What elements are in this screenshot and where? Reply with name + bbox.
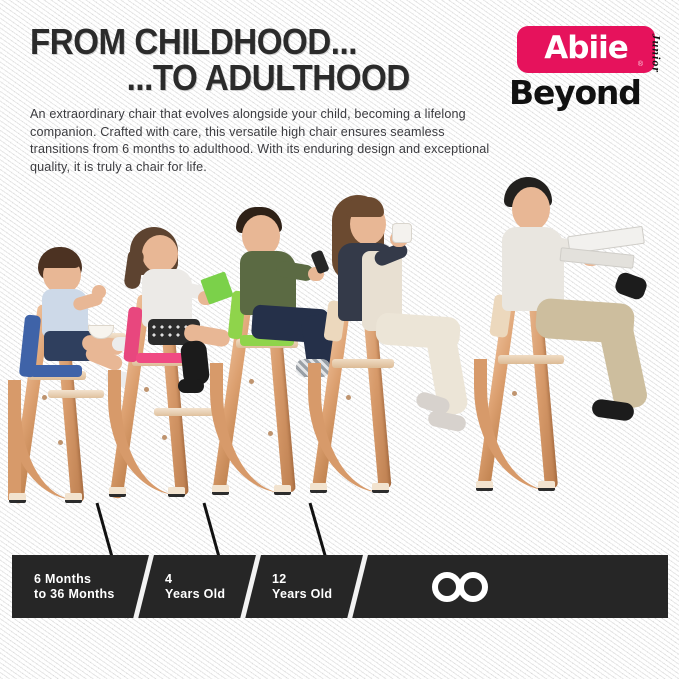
girl-head: [142, 235, 178, 273]
man-head: [512, 187, 550, 231]
description-paragraph: An extraordinary chair that evolves alon…: [30, 106, 495, 176]
age-segment-1: 6 Months to 36 Months: [34, 555, 115, 618]
age-segment-3-line2: Years Old: [272, 587, 332, 602]
man-sock: [613, 271, 649, 302]
chair-foot-rear: [476, 481, 493, 491]
segment-divider-3: [346, 555, 370, 618]
infinity-ring-right: [458, 572, 488, 602]
girl-shoe: [178, 379, 204, 393]
age-segment-2-line1: 4: [165, 572, 225, 587]
age-segment-2-line2: Years Old: [165, 587, 225, 602]
brand-badge: Abiie ®: [517, 26, 655, 73]
toddler-hair-fringe: [40, 251, 80, 268]
chair-foot-rear: [109, 487, 126, 497]
man-laptop-base: [559, 247, 634, 269]
age-segment-2: 4 Years Old: [165, 555, 225, 618]
figure-man: [480, 167, 679, 507]
man-body: [494, 177, 679, 477]
man-pants-shin: [597, 314, 649, 411]
growth-stages-illustration: [0, 205, 679, 525]
brand-name: Abiie: [544, 33, 627, 64]
chair-knob: [162, 435, 167, 440]
headline-line-2: ...TO ADULTHOOD: [30, 60, 462, 96]
product-suffix-name: Junior: [648, 34, 663, 73]
woman-sock: [427, 409, 467, 433]
chair-foot-front: [372, 483, 389, 493]
product-line-name: Beyond: [509, 75, 641, 111]
age-segment-1-line2: to 36 Months: [34, 587, 115, 602]
chair-knob: [268, 431, 273, 436]
chair-foot-rear: [9, 493, 26, 503]
segment-divider-2: [239, 555, 263, 618]
product-infographic: FROM CHILDHOOD... ...TO ADULTHOOD An ext…: [0, 0, 679, 679]
figure-woman: [318, 173, 498, 505]
age-segment-1-line1: 6 Months: [34, 572, 115, 587]
chair-foot-front: [538, 481, 555, 491]
chair-foot-front: [274, 485, 291, 495]
woman-mug: [392, 223, 412, 243]
woman-hair-front: [346, 197, 384, 217]
chair-foot-rear: [212, 485, 229, 495]
segment-divider-1: [132, 555, 156, 618]
headline-line-1: FROM CHILDHOOD...: [30, 24, 462, 60]
registered-trademark-icon: ®: [638, 61, 643, 68]
brand-logo: Abiie ® Beyond Junior: [504, 26, 669, 136]
page-title: FROM CHILDHOOD... ...TO ADULTHOOD: [30, 24, 500, 96]
infinity-icon: [432, 572, 494, 602]
chair-foot-front: [65, 493, 82, 503]
age-segment-3-line1: 12: [272, 572, 332, 587]
chair-knob: [58, 440, 63, 445]
chair-foot-front: [168, 487, 185, 497]
chair-foot-rear: [310, 483, 327, 493]
age-range-bar: 6 Months to 36 Months 4 Years Old 12 Yea…: [12, 555, 668, 618]
age-segment-3: 12 Years Old: [272, 555, 332, 618]
